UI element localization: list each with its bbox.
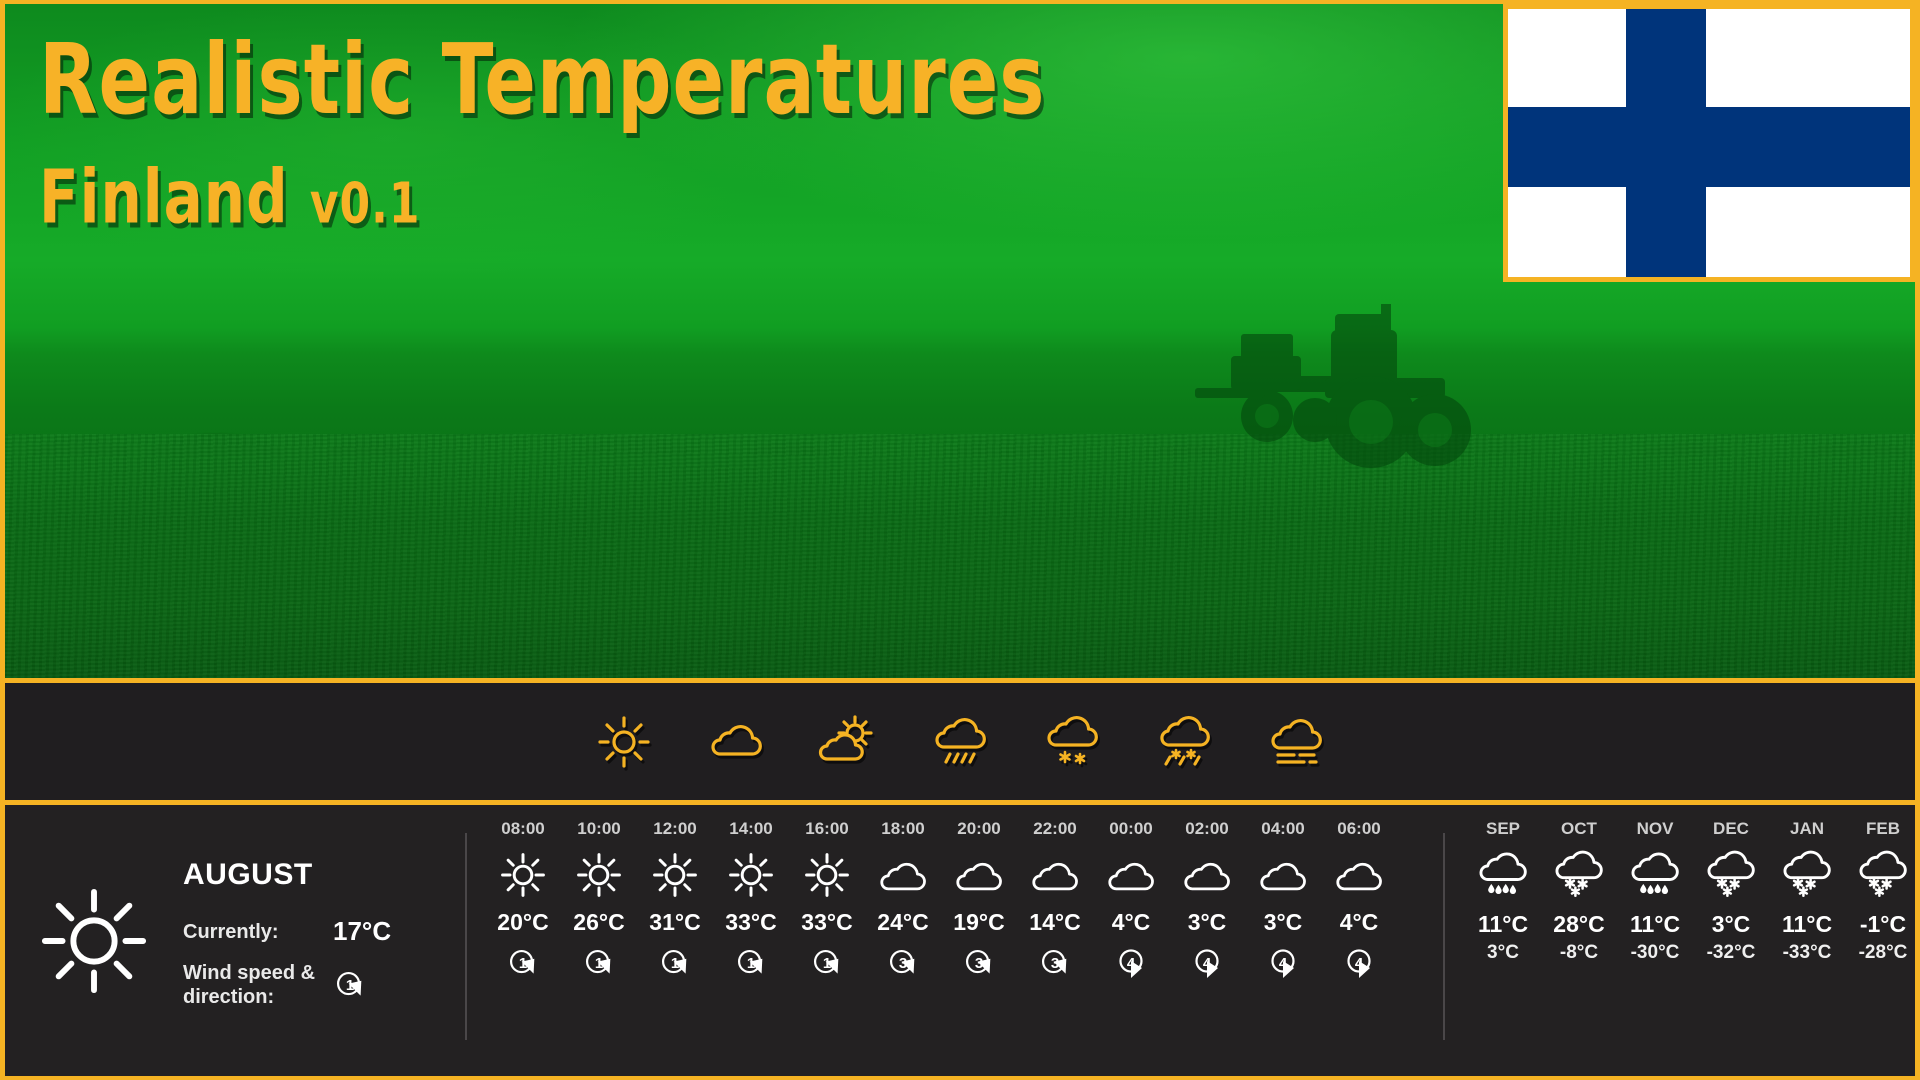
wind-speed-value: 3	[962, 948, 996, 978]
month-low-temp: -8°C	[1541, 942, 1617, 964]
month-low-temp: -30°C	[1617, 942, 1693, 964]
hourly-column[interactable]: 00:00 4°C 4	[1093, 819, 1169, 978]
wind-speed-value: 1	[810, 948, 844, 978]
monthly-column[interactable]: SEP 11°C 3°C	[1465, 819, 1541, 964]
hour-wind: 3	[941, 948, 1017, 978]
monthly-column[interactable]: JAN 11°C -33°C	[1769, 819, 1845, 964]
snow-icon	[1704, 850, 1758, 900]
rain-icon	[1628, 850, 1682, 900]
cloud-icon	[1333, 849, 1385, 901]
snow-icon	[1552, 850, 1606, 900]
month-weather-icon	[1465, 847, 1541, 903]
month-low-temp: -33°C	[1769, 942, 1845, 964]
month-weather-icon	[1541, 847, 1617, 903]
currently-label: Currently:	[183, 920, 333, 944]
cloud-icon	[1105, 849, 1157, 901]
hour-time-label: 02:00	[1169, 819, 1245, 839]
hour-temperature: 20°C	[485, 909, 561, 936]
wind-speed-value: 3	[886, 948, 920, 978]
hour-temperature: 33°C	[713, 909, 789, 936]
sun-icon	[497, 849, 549, 901]
hour-temperature: 3°C	[1245, 909, 1321, 936]
page-subtitle: Finland v0.1	[39, 156, 1159, 246]
hour-wind: 1	[637, 948, 713, 978]
legend-partly-cloudy-icon[interactable]	[809, 703, 887, 781]
hour-temperature: 4°C	[1093, 909, 1169, 936]
current-weather-icon	[19, 886, 169, 996]
current-wind-row: Wind speed & direction: 1	[183, 961, 391, 1009]
month-high-temp: 11°C	[1617, 911, 1693, 938]
hour-temperature: 24°C	[865, 909, 941, 936]
wind-direction-icon: 3	[962, 948, 996, 978]
month-low-temp: 3°C	[1465, 942, 1541, 964]
wind-speed-value: 1	[582, 948, 616, 978]
hourly-column[interactable]: 18:00 24°C 3	[865, 819, 941, 978]
month-label: SEP	[1465, 819, 1541, 839]
legend-rain-icon[interactable]	[921, 703, 999, 781]
wind-speed-value: 4	[1190, 948, 1224, 978]
hour-temperature: 26°C	[561, 909, 637, 936]
tractor-silhouette-icon	[1135, 304, 1475, 489]
hour-weather-icon	[1017, 847, 1093, 903]
hour-time-label: 20:00	[941, 819, 1017, 839]
cloud-icon	[1257, 849, 1309, 901]
hour-temperature: 14°C	[1017, 909, 1093, 936]
hour-wind: 1	[485, 948, 561, 978]
legend-sleet-icon[interactable]	[1145, 703, 1223, 781]
month-label: JAN	[1769, 819, 1845, 839]
month-high-temp: 11°C	[1465, 911, 1541, 938]
wind-speed-value: 1	[333, 970, 367, 1000]
hour-temperature: 4°C	[1321, 909, 1397, 936]
hour-time-label: 16:00	[789, 819, 865, 839]
month-high-temp: 3°C	[1693, 911, 1769, 938]
hour-wind: 4	[1245, 948, 1321, 978]
legend-snow-icon[interactable]	[1033, 703, 1111, 781]
wind-direction-icon: 1	[658, 948, 692, 978]
cloud-icon	[1029, 849, 1081, 901]
month-high-temp: 28°C	[1541, 911, 1617, 938]
hourly-column[interactable]: 04:00 3°C 4	[1245, 819, 1321, 978]
wind-speed-value: 4	[1342, 948, 1376, 978]
country-name: Finland	[39, 153, 289, 240]
hour-temperature: 19°C	[941, 909, 1017, 936]
page-title: Realistic Temperatures	[39, 26, 1159, 134]
sun-icon	[801, 849, 853, 901]
current-info: AUGUST Currently: 17°C Wind speed & dire…	[169, 858, 391, 1023]
hour-wind: 4	[1169, 948, 1245, 978]
hourly-column[interactable]: 14:00 33°C 1	[713, 819, 789, 978]
snow-icon	[1856, 850, 1910, 900]
month-weather-icon	[1693, 847, 1769, 903]
field-decoration	[5, 434, 1915, 678]
sun-icon	[649, 849, 701, 901]
month-label: DEC	[1693, 819, 1769, 839]
wind-direction-icon: 3	[1038, 948, 1072, 978]
hourly-column[interactable]: 10:00 26°C 1	[561, 819, 637, 978]
hour-weather-icon	[713, 847, 789, 903]
wind-direction-icon: 4	[1190, 948, 1224, 978]
hourly-forecast-list: 08:00 20°C 1 10:00 26°C 1 12:00	[467, 805, 1443, 1076]
hour-weather-icon	[941, 847, 1017, 903]
wind-speed-value: 3	[1038, 948, 1072, 978]
hour-wind: 1	[789, 948, 865, 978]
wind-direction-icon: 1	[333, 970, 367, 1000]
version-label: v0.1	[310, 171, 421, 236]
wind-direction-icon: 1	[506, 948, 540, 978]
wind-direction-icon: 3	[886, 948, 920, 978]
wind-speed-value: 1	[506, 948, 540, 978]
hour-weather-icon	[1169, 847, 1245, 903]
hour-time-label: 06:00	[1321, 819, 1397, 839]
weather-mod-panel: Realistic Temperatures Finland v0.1	[0, 0, 1920, 1080]
hour-wind: 4	[1093, 948, 1169, 978]
month-weather-icon	[1769, 847, 1845, 903]
hour-time-label: 14:00	[713, 819, 789, 839]
sun-icon	[573, 849, 625, 901]
hour-time-label: 00:00	[1093, 819, 1169, 839]
sun-icon	[725, 849, 777, 901]
hour-weather-icon	[637, 847, 713, 903]
month-weather-icon	[1617, 847, 1693, 903]
hour-wind: 4	[1321, 948, 1397, 978]
hourly-column[interactable]: 02:00 3°C 4	[1169, 819, 1245, 978]
wind-speed-value: 1	[658, 948, 692, 978]
month-high-temp: -1°C	[1845, 911, 1920, 938]
hour-wind: 1	[713, 948, 789, 978]
hour-weather-icon	[561, 847, 637, 903]
hour-time-label: 18:00	[865, 819, 941, 839]
hour-weather-icon	[485, 847, 561, 903]
hour-temperature: 3°C	[1169, 909, 1245, 936]
hour-wind: 1	[561, 948, 637, 978]
weather-icon-legend	[0, 683, 1920, 805]
wind-direction-icon: 4	[1266, 948, 1300, 978]
month-weather-icon	[1845, 847, 1920, 903]
hourly-column[interactable]: 16:00 33°C 1	[789, 819, 865, 978]
hour-time-label: 10:00	[561, 819, 637, 839]
current-month-label: AUGUST	[183, 858, 391, 892]
month-low-temp: -32°C	[1693, 942, 1769, 964]
hour-time-label: 04:00	[1245, 819, 1321, 839]
hour-time-label: 08:00	[485, 819, 561, 839]
title-block: Realistic Temperatures Finland v0.1	[39, 26, 1159, 226]
current-temp-row: Currently: 17°C	[183, 916, 391, 947]
wind-label: Wind speed & direction:	[183, 961, 333, 1009]
hourly-column[interactable]: 20:00 19°C 3	[941, 819, 1017, 978]
legend-cloud-icon[interactable]	[697, 703, 775, 781]
month-label: FEB	[1845, 819, 1920, 839]
monthly-column[interactable]: NOV 11°C -30°C	[1617, 819, 1693, 964]
hourly-column[interactable]: 06:00 4°C 4	[1321, 819, 1397, 978]
hour-temperature: 31°C	[637, 909, 713, 936]
legend-fog-icon[interactable]	[1257, 703, 1335, 781]
legend-sun-icon[interactable]	[585, 703, 663, 781]
wind-direction-icon: 1	[810, 948, 844, 978]
current-conditions-block: AUGUST Currently: 17°C Wind speed & dire…	[5, 805, 465, 1076]
hour-time-label: 12:00	[637, 819, 713, 839]
snow-icon	[1780, 850, 1834, 900]
month-low-temp: -28°C	[1845, 942, 1920, 964]
rain-icon	[1476, 850, 1530, 900]
hourly-column[interactable]: 22:00 14°C 3	[1017, 819, 1093, 978]
month-high-temp: 11°C	[1769, 911, 1845, 938]
wind-direction-icon: 4	[1114, 948, 1148, 978]
monthly-forecast-list: SEP 11°C 3°C OCT 28°C -8°C	[1445, 805, 1915, 1076]
hour-wind: 3	[865, 948, 941, 978]
flag-horizontal-bar	[1508, 107, 1910, 187]
hourly-column[interactable]: 12:00 31°C 1	[637, 819, 713, 978]
hourly-column[interactable]: 08:00 20°C 1	[485, 819, 561, 978]
hour-weather-icon	[789, 847, 865, 903]
cloud-icon	[953, 849, 1005, 901]
cloud-icon	[1181, 849, 1233, 901]
wind-direction-icon: 1	[734, 948, 768, 978]
cloud-icon	[877, 849, 929, 901]
month-label: NOV	[1617, 819, 1693, 839]
hour-wind: 3	[1017, 948, 1093, 978]
monthly-column[interactable]: OCT 28°C -8°C	[1541, 819, 1617, 964]
forecast-panel: AUGUST Currently: 17°C Wind speed & dire…	[0, 805, 1920, 1080]
hour-temperature: 33°C	[789, 909, 865, 936]
hour-weather-icon	[1093, 847, 1169, 903]
hour-weather-icon	[865, 847, 941, 903]
wind-speed-value: 1	[734, 948, 768, 978]
finland-flag-icon	[1503, 4, 1915, 282]
monthly-column[interactable]: DEC 3°C -32°C	[1693, 819, 1769, 964]
month-label: OCT	[1541, 819, 1617, 839]
wind-direction-icon: 4	[1342, 948, 1376, 978]
hour-time-label: 22:00	[1017, 819, 1093, 839]
currently-value: 17°C	[333, 916, 391, 947]
header-banner: Realistic Temperatures Finland v0.1	[0, 0, 1920, 683]
wind-speed-value: 4	[1114, 948, 1148, 978]
hour-weather-icon	[1245, 847, 1321, 903]
wind-direction-icon: 1	[582, 948, 616, 978]
monthly-column[interactable]: FEB -1°C -28°C	[1845, 819, 1920, 964]
hour-weather-icon	[1321, 847, 1397, 903]
wind-speed-value: 4	[1266, 948, 1300, 978]
current-wind-badge: 1	[333, 970, 367, 1000]
